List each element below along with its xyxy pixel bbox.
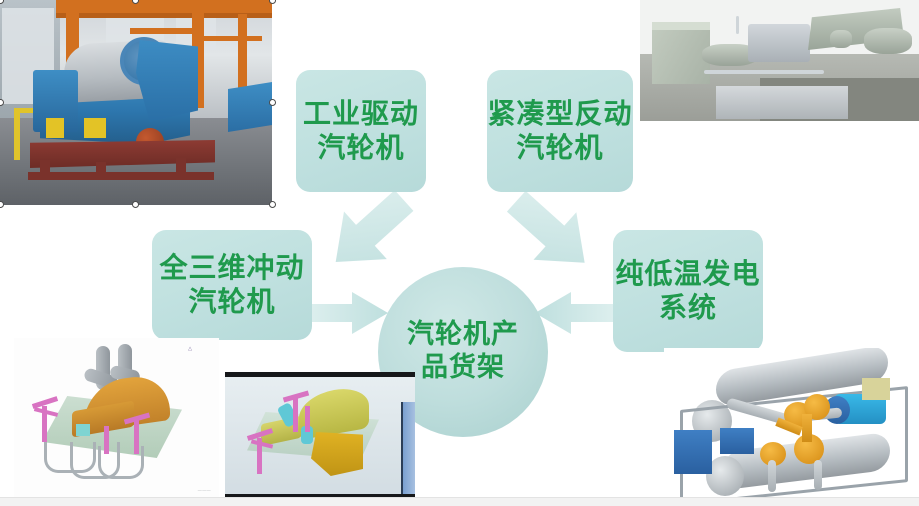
cad-drain-pipe — [768, 460, 776, 492]
crane-beam — [56, 0, 272, 13]
image-cad-yellow-turbine[interactable] — [225, 372, 415, 498]
cad-blue-box — [720, 428, 754, 454]
arrow-lowtemp-to-center — [535, 292, 625, 346]
plant-auxiliary-skid — [716, 86, 848, 119]
cad-blue-panel — [401, 402, 415, 494]
node-full-3d-impulse-turbine[interactable]: 全三维冲动汽轮机 — [152, 230, 312, 340]
cad-blue-box — [674, 430, 712, 474]
image-cad-orange-turbine[interactable]: △ ——— — [14, 338, 219, 498]
company-logo: △ — [175, 346, 205, 362]
cad-return-pipe — [98, 446, 144, 479]
cad-cyan-part — [76, 424, 90, 436]
selection-handle-middle-right[interactable] — [269, 99, 276, 106]
node-low-temperature-power-system[interactable]: 纯低温发电系统 — [613, 230, 763, 352]
plant-exhaust-cylinder — [830, 30, 852, 48]
node-label: 紧凑型反动汽轮机 — [487, 97, 633, 165]
cad-drain-pipe — [814, 460, 822, 490]
cad-magenta-support — [293, 398, 298, 432]
background-machine — [228, 82, 272, 132]
plant-pipe — [736, 16, 739, 34]
node-label: 全三维冲动汽轮机 — [152, 251, 312, 319]
selection-handle-bottom-right[interactable] — [269, 201, 276, 208]
cad-top-border — [225, 372, 415, 377]
node-label: 纯低温发电系统 — [613, 257, 763, 325]
cad-magenta-support — [305, 406, 310, 432]
yellow-support — [84, 118, 106, 138]
cad-orange-pipe — [802, 414, 812, 442]
crane-brace — [204, 36, 262, 41]
red-leg — [28, 172, 214, 180]
slide-bottom-strip — [0, 497, 919, 506]
selection-handle-bottom-center[interactable] — [132, 201, 139, 208]
plant-building-roof — [652, 22, 710, 30]
plant-exhaust-cylinder — [864, 28, 912, 54]
cad-terminal-box — [862, 378, 890, 400]
cad-caption: ——— — [198, 487, 211, 492]
node-industrial-drive-turbine[interactable]: 工业驱动汽轮机 — [296, 70, 426, 192]
image-cad-low-temp-skid[interactable] — [664, 348, 919, 506]
image-factory-turbine[interactable] — [0, 0, 272, 205]
selection-handle-bottom-left[interactable] — [0, 201, 4, 208]
yellow-handrail — [14, 108, 20, 160]
selection-handle-top-right[interactable] — [269, 0, 276, 4]
node-compact-reaction-turbine[interactable]: 紧凑型反动汽轮机 — [487, 70, 633, 192]
yellow-support — [46, 118, 64, 138]
image-plant-layout[interactable] — [640, 0, 919, 121]
plant-turbine-unit — [748, 24, 810, 62]
crane-brace — [130, 28, 200, 34]
plant-pipe — [704, 70, 824, 74]
node-label: 工业驱动汽轮机 — [296, 97, 426, 165]
slide-canvas: 工业驱动汽轮机 紧凑型反动汽轮机 全三维冲动汽轮机 纯低温发电系统 汽轮机产品货… — [0, 0, 919, 506]
